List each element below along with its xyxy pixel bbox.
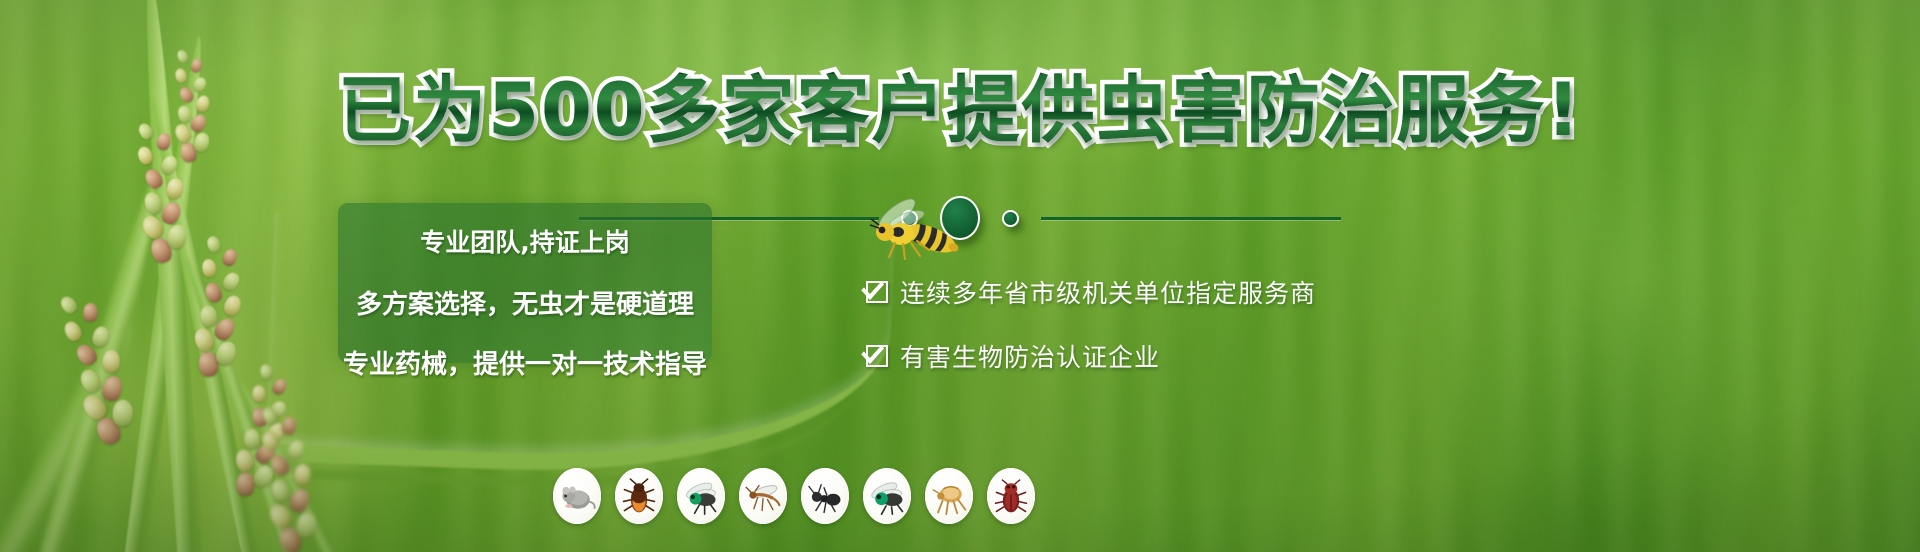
wasp-icon	[845, 196, 965, 266]
checkbox-checked-icon	[866, 281, 888, 303]
promo-line-1: 专业团队,持证上岗	[338, 223, 712, 259]
promo-line-3: 专业药械，提供一对一技术指导	[338, 344, 712, 381]
mosquito-icon	[739, 468, 787, 524]
bedbug-icon	[987, 468, 1035, 524]
ant-icon	[801, 468, 849, 524]
blowfly-icon	[863, 468, 911, 524]
promo-line-2: 多方案选择，无虫才是硬道理	[338, 284, 712, 321]
checklist-item-label: 有害生物防治认证企业	[900, 338, 1160, 374]
rodent-icon	[553, 468, 601, 524]
banner-headline: 已为500多家客户提供虫害防治服务! 已为500多家客户提供虫害防治服务!	[0, 74, 1920, 147]
pest-control-banner: 已为500多家客户提供虫害防治服务! 已为500多家客户提供虫害防治服务! 专业…	[0, 0, 1920, 552]
checklist-item: 连续多年省市级机关单位指定服务商	[866, 274, 1316, 310]
cockroach-icon	[615, 468, 663, 524]
checklist-item-label: 连续多年省市级机关单位指定服务商	[900, 274, 1316, 310]
flea-icon	[925, 468, 973, 524]
headline-fill-layer: 已为500多家客户提供虫害防治服务!	[338, 74, 1582, 147]
fly-icon	[677, 468, 725, 524]
promo-highlight-panel: 专业团队,持证上岗 多方案选择，无虫才是硬道理 专业药械，提供一对一技术指导	[338, 203, 712, 363]
checklist-item: 有害生物防治认证企业	[866, 338, 1316, 374]
pest-type-icon-strip	[553, 468, 1035, 524]
checkbox-checked-icon	[866, 345, 888, 367]
divider-dot-small-right	[1002, 210, 1019, 227]
credentials-checklist: 连续多年省市级机关单位指定服务商 有害生物防治认证企业	[866, 274, 1316, 402]
divider-rule-right	[1041, 217, 1341, 220]
